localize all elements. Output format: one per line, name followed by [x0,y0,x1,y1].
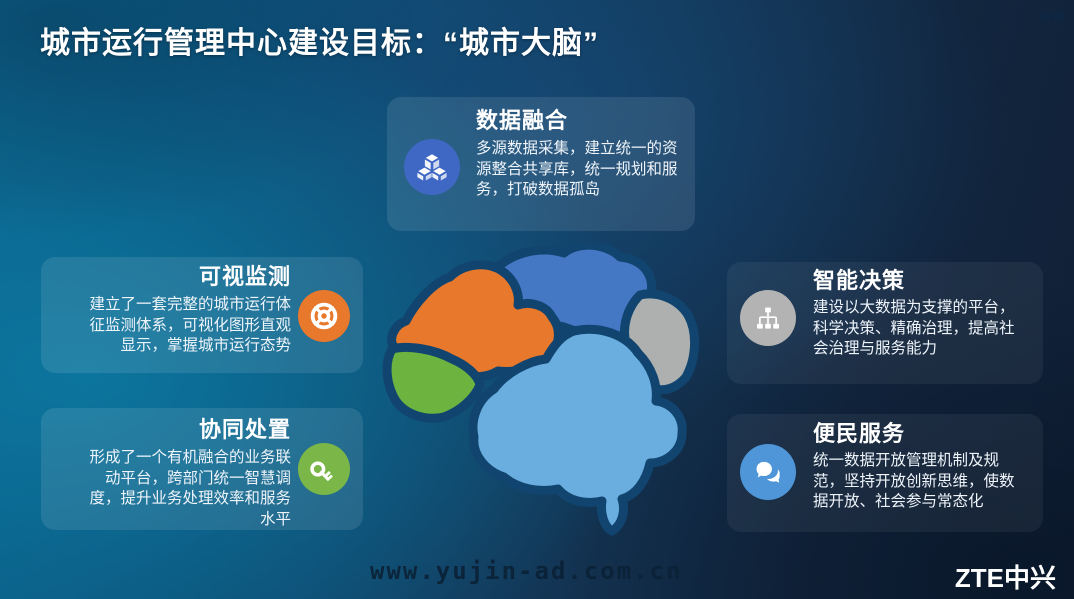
card-desc-public-service: 统一数据开放管理机制及规范，坚持开放创新思维，使数据开放、社会参与常态化 [813,451,1025,513]
card-title-collab-disposal: 协同处置 [199,419,291,441]
lifebuoy-icon [298,290,350,342]
card-data-fusion[interactable]: 数据融合 多源数据采集，建立统一的资源整合共享库，统一规划和服务，打破数据孤岛 [387,97,695,231]
slide-canvas: 城市运行管理中心建设目标：“城市大脑” 秘密 [0,0,1074,599]
key-icon [298,443,350,495]
classification-marker: 秘密 [1040,8,1066,25]
card-public-service[interactable]: 便民服务 统一数据开放管理机制及规范，坚持开放创新思维，使数据开放、社会参与常态… [727,414,1043,532]
page-title: 城市运行管理中心建设目标：“城市大脑” [40,18,599,62]
site-watermark: www.yujin-ad.com.cn [370,557,683,585]
card-desc-visual-monitor: 建立了一套完整的城市运行体征监测体系，可视化图形直观显示，掌握城市运行态势 [76,295,291,357]
card-smart-decision[interactable]: 智能决策 建设以大数据为支撑的平台，科学决策、精确治理，提高社会治理与服务能力 [727,262,1043,384]
card-desc-collab-disposal: 形成了一个有机融合的业务联动平台，跨部门统一智慧调度，提升业务处理效率和服务水平 [76,448,291,530]
card-title-data-fusion: 数据融合 [476,110,568,132]
card-title-smart-decision: 智能决策 [813,270,905,292]
chat-bubbles-icon [740,444,796,500]
card-desc-smart-decision: 建设以大数据为支撑的平台，科学决策、精确治理，提高社会治理与服务能力 [813,298,1025,360]
zte-logo: ZTE中兴 [955,558,1056,595]
city-brain-graphic [378,243,714,548]
card-title-public-service: 便民服务 [813,423,905,445]
card-desc-data-fusion: 多源数据采集，建立统一的资源整合共享库，统一规划和服务，打破数据孤岛 [476,139,688,201]
card-title-visual-monitor: 可视监测 [199,266,291,288]
cubes-icon [404,139,460,195]
sitemap-icon [740,290,796,346]
card-visual-monitor[interactable]: 可视监测 建立了一套完整的城市运行体征监测体系，可视化图形直观显示，掌握城市运行… [41,257,363,373]
card-collab-disposal[interactable]: 协同处置 形成了一个有机融合的业务联动平台，跨部门统一智慧调度，提升业务处理效率… [41,408,363,530]
